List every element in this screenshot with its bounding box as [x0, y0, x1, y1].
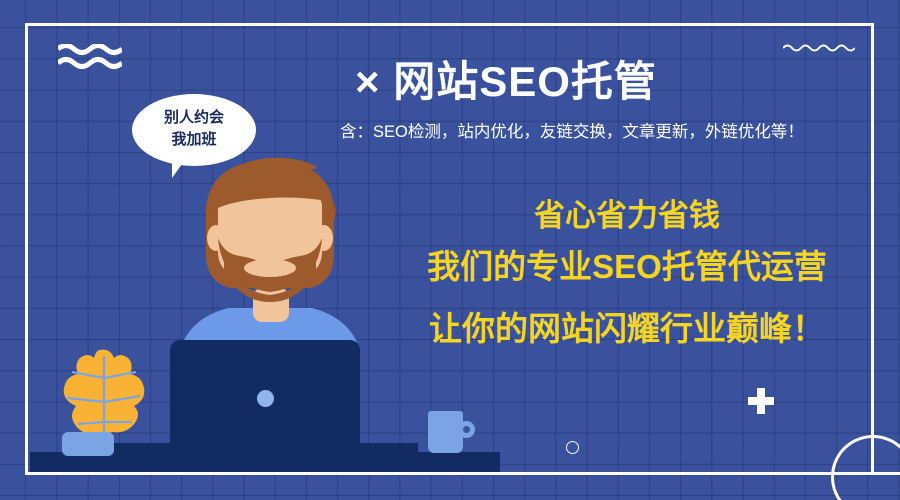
wave-lines-icon: [58, 44, 122, 70]
speech-bubble-line-2: 我加班: [132, 129, 256, 151]
slogan-group: 省心省力省钱 我们的专业SEO托管代运营 让你的网站闪耀行业巅峰！: [382, 196, 872, 360]
plus-icon: [748, 388, 774, 414]
frame-border-top: [25, 23, 874, 26]
circle-outline-icon: [566, 441, 579, 454]
speech-bubble-line-1: 别人约会: [132, 107, 256, 129]
speech-bubble-text: 别人约会 我加班: [132, 107, 256, 151]
page-title: × 网站SEO托管: [355, 48, 835, 109]
coffee-mug: [428, 411, 463, 453]
speech-bubble: 别人约会 我加班: [132, 94, 256, 166]
seo-hosting-banner: × 网站SEO托管 含：SEO检测，站内优化，友链交换，文章更新，外链优化等！ …: [0, 0, 900, 500]
laptop-logo-icon: [257, 390, 274, 407]
slogan-line-2: 我们的专业SEO托管代运营: [382, 236, 872, 298]
plant-illustration: [48, 348, 156, 444]
frame-border-bottom: [25, 472, 900, 475]
slogan-line-3: 让你的网站闪耀行业巅峰！: [382, 298, 872, 360]
plant-pot: [62, 432, 114, 456]
page-subtitle: 含：SEO检测，站内优化，友链交换，文章更新，外链优化等！: [340, 118, 885, 142]
frame-border-left: [25, 23, 28, 475]
slogan-line-1: 省心省力省钱: [382, 196, 872, 236]
